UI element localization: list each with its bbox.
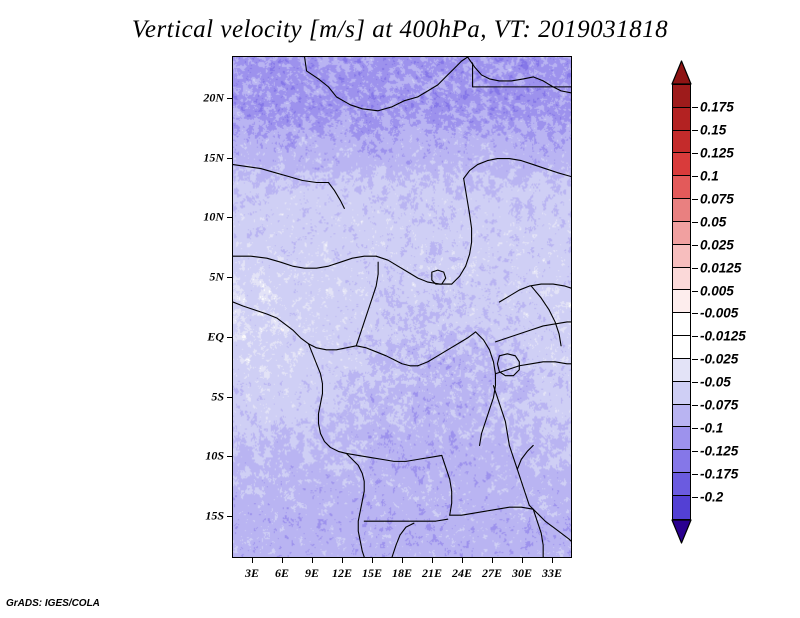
lon-tick bbox=[432, 558, 433, 563]
colorbar-band bbox=[673, 336, 690, 359]
colorbar-band bbox=[673, 131, 690, 154]
colorbar-label: -0.05 bbox=[700, 375, 731, 390]
colorbar-tick bbox=[692, 497, 698, 498]
lon-label: 9E bbox=[305, 566, 319, 581]
colorbar-label: 0.125 bbox=[700, 145, 734, 160]
colorbar-tick bbox=[692, 313, 698, 314]
lon-tick bbox=[342, 558, 343, 563]
colorbar-tick bbox=[692, 222, 698, 223]
colorbar-label: -0.025 bbox=[700, 352, 738, 367]
colorbar-label: 0.0125 bbox=[700, 260, 741, 275]
lon-tick bbox=[282, 558, 283, 563]
lon-tick bbox=[522, 558, 523, 563]
lon-tick bbox=[402, 558, 403, 563]
colorbar-band bbox=[673, 450, 690, 473]
lon-label: 21E bbox=[422, 566, 442, 581]
lon-label: 3E bbox=[245, 566, 259, 581]
lon-label: 6E bbox=[275, 566, 289, 581]
colorbar-bottom-arrow-cap bbox=[671, 519, 692, 544]
lat-tick bbox=[227, 217, 232, 218]
colorbar-band bbox=[673, 222, 690, 245]
colorbar-label: 0.005 bbox=[700, 283, 734, 298]
colorbar-label: 0.05 bbox=[700, 214, 726, 229]
lat-label: EQ bbox=[170, 329, 224, 344]
colorbar-tick bbox=[692, 153, 698, 154]
colorbar-band bbox=[673, 85, 690, 108]
colorbar-band bbox=[673, 473, 690, 496]
colorbar-label: -0.005 bbox=[700, 306, 738, 321]
lat-tick bbox=[227, 98, 232, 99]
map-panel[interactable] bbox=[232, 56, 572, 558]
lon-label: 33E bbox=[542, 566, 562, 581]
colorbar-label: 0.175 bbox=[700, 99, 734, 114]
vertical-velocity-field bbox=[233, 57, 571, 557]
colorbar-band bbox=[673, 496, 690, 519]
colorbar-label: -0.125 bbox=[700, 444, 738, 459]
colorbar-band bbox=[673, 199, 690, 222]
lat-tick bbox=[227, 397, 232, 398]
colorbar-label: 0.1 bbox=[700, 168, 719, 183]
lat-tick bbox=[227, 277, 232, 278]
colorbar-tick bbox=[692, 245, 698, 246]
lat-label: 20N bbox=[170, 90, 224, 105]
page-title: Vertical velocity [m/s] at 400hPa, VT: 2… bbox=[0, 16, 800, 44]
lat-tick bbox=[227, 456, 232, 457]
colorbar-band bbox=[673, 405, 690, 428]
colorbar-tick bbox=[692, 382, 698, 383]
colorbar-band bbox=[673, 290, 690, 313]
colorbar-tick bbox=[692, 474, 698, 475]
colorbar-label: 0.075 bbox=[700, 191, 734, 206]
colorbar-label: -0.1 bbox=[700, 421, 723, 436]
colorbar-label: -0.0125 bbox=[700, 329, 746, 344]
colorbar[interactable] bbox=[672, 84, 691, 520]
colorbar-tick bbox=[692, 176, 698, 177]
colorbar-tick bbox=[692, 359, 698, 360]
colorbar-label: 0.15 bbox=[700, 122, 726, 137]
colorbar-label: -0.075 bbox=[700, 398, 738, 413]
colorbar-band bbox=[673, 313, 690, 336]
lon-label: 27E bbox=[482, 566, 502, 581]
lon-tick bbox=[462, 558, 463, 563]
lat-label: 10S bbox=[170, 449, 224, 464]
colorbar-band bbox=[673, 427, 690, 450]
lon-label: 24E bbox=[452, 566, 472, 581]
lon-tick bbox=[252, 558, 253, 563]
colorbar-label: 0.025 bbox=[700, 237, 734, 252]
colorbar-label: -0.2 bbox=[700, 490, 723, 505]
colorbar-band bbox=[673, 382, 690, 405]
lon-label: 18E bbox=[392, 566, 412, 581]
colorbar-tick bbox=[692, 405, 698, 406]
colorbar-tick bbox=[692, 199, 698, 200]
lon-label: 15E bbox=[362, 566, 382, 581]
colorbar-band bbox=[673, 176, 690, 199]
lon-tick bbox=[492, 558, 493, 563]
colorbar-band bbox=[673, 245, 690, 268]
lat-label: 5N bbox=[170, 270, 224, 285]
lat-tick bbox=[227, 516, 232, 517]
colorbar-band bbox=[673, 359, 690, 382]
colorbar-band bbox=[673, 268, 690, 291]
colorbar-tick bbox=[692, 107, 698, 108]
colorbar-band bbox=[673, 153, 690, 176]
grads-credit: GrADS: IGES/COLA bbox=[6, 598, 100, 609]
lat-tick bbox=[227, 337, 232, 338]
colorbar-band bbox=[673, 108, 690, 131]
colorbar-label: -0.175 bbox=[700, 467, 738, 482]
lat-tick bbox=[227, 158, 232, 159]
lat-label: 10N bbox=[170, 210, 224, 225]
colorbar-top-arrow-cap bbox=[671, 60, 692, 85]
lat-label: 15N bbox=[170, 150, 224, 165]
lon-label: 30E bbox=[512, 566, 532, 581]
colorbar-tick bbox=[692, 291, 698, 292]
colorbar-tick bbox=[692, 130, 698, 131]
colorbar-tick bbox=[692, 451, 698, 452]
colorbar-tick bbox=[692, 336, 698, 337]
lon-tick bbox=[372, 558, 373, 563]
lat-label: 5S bbox=[170, 389, 224, 404]
lat-label: 15S bbox=[170, 509, 224, 524]
lon-label: 12E bbox=[332, 566, 352, 581]
colorbar-tick bbox=[692, 428, 698, 429]
colorbar-tick bbox=[692, 268, 698, 269]
lon-tick bbox=[552, 558, 553, 563]
lon-tick bbox=[312, 558, 313, 563]
